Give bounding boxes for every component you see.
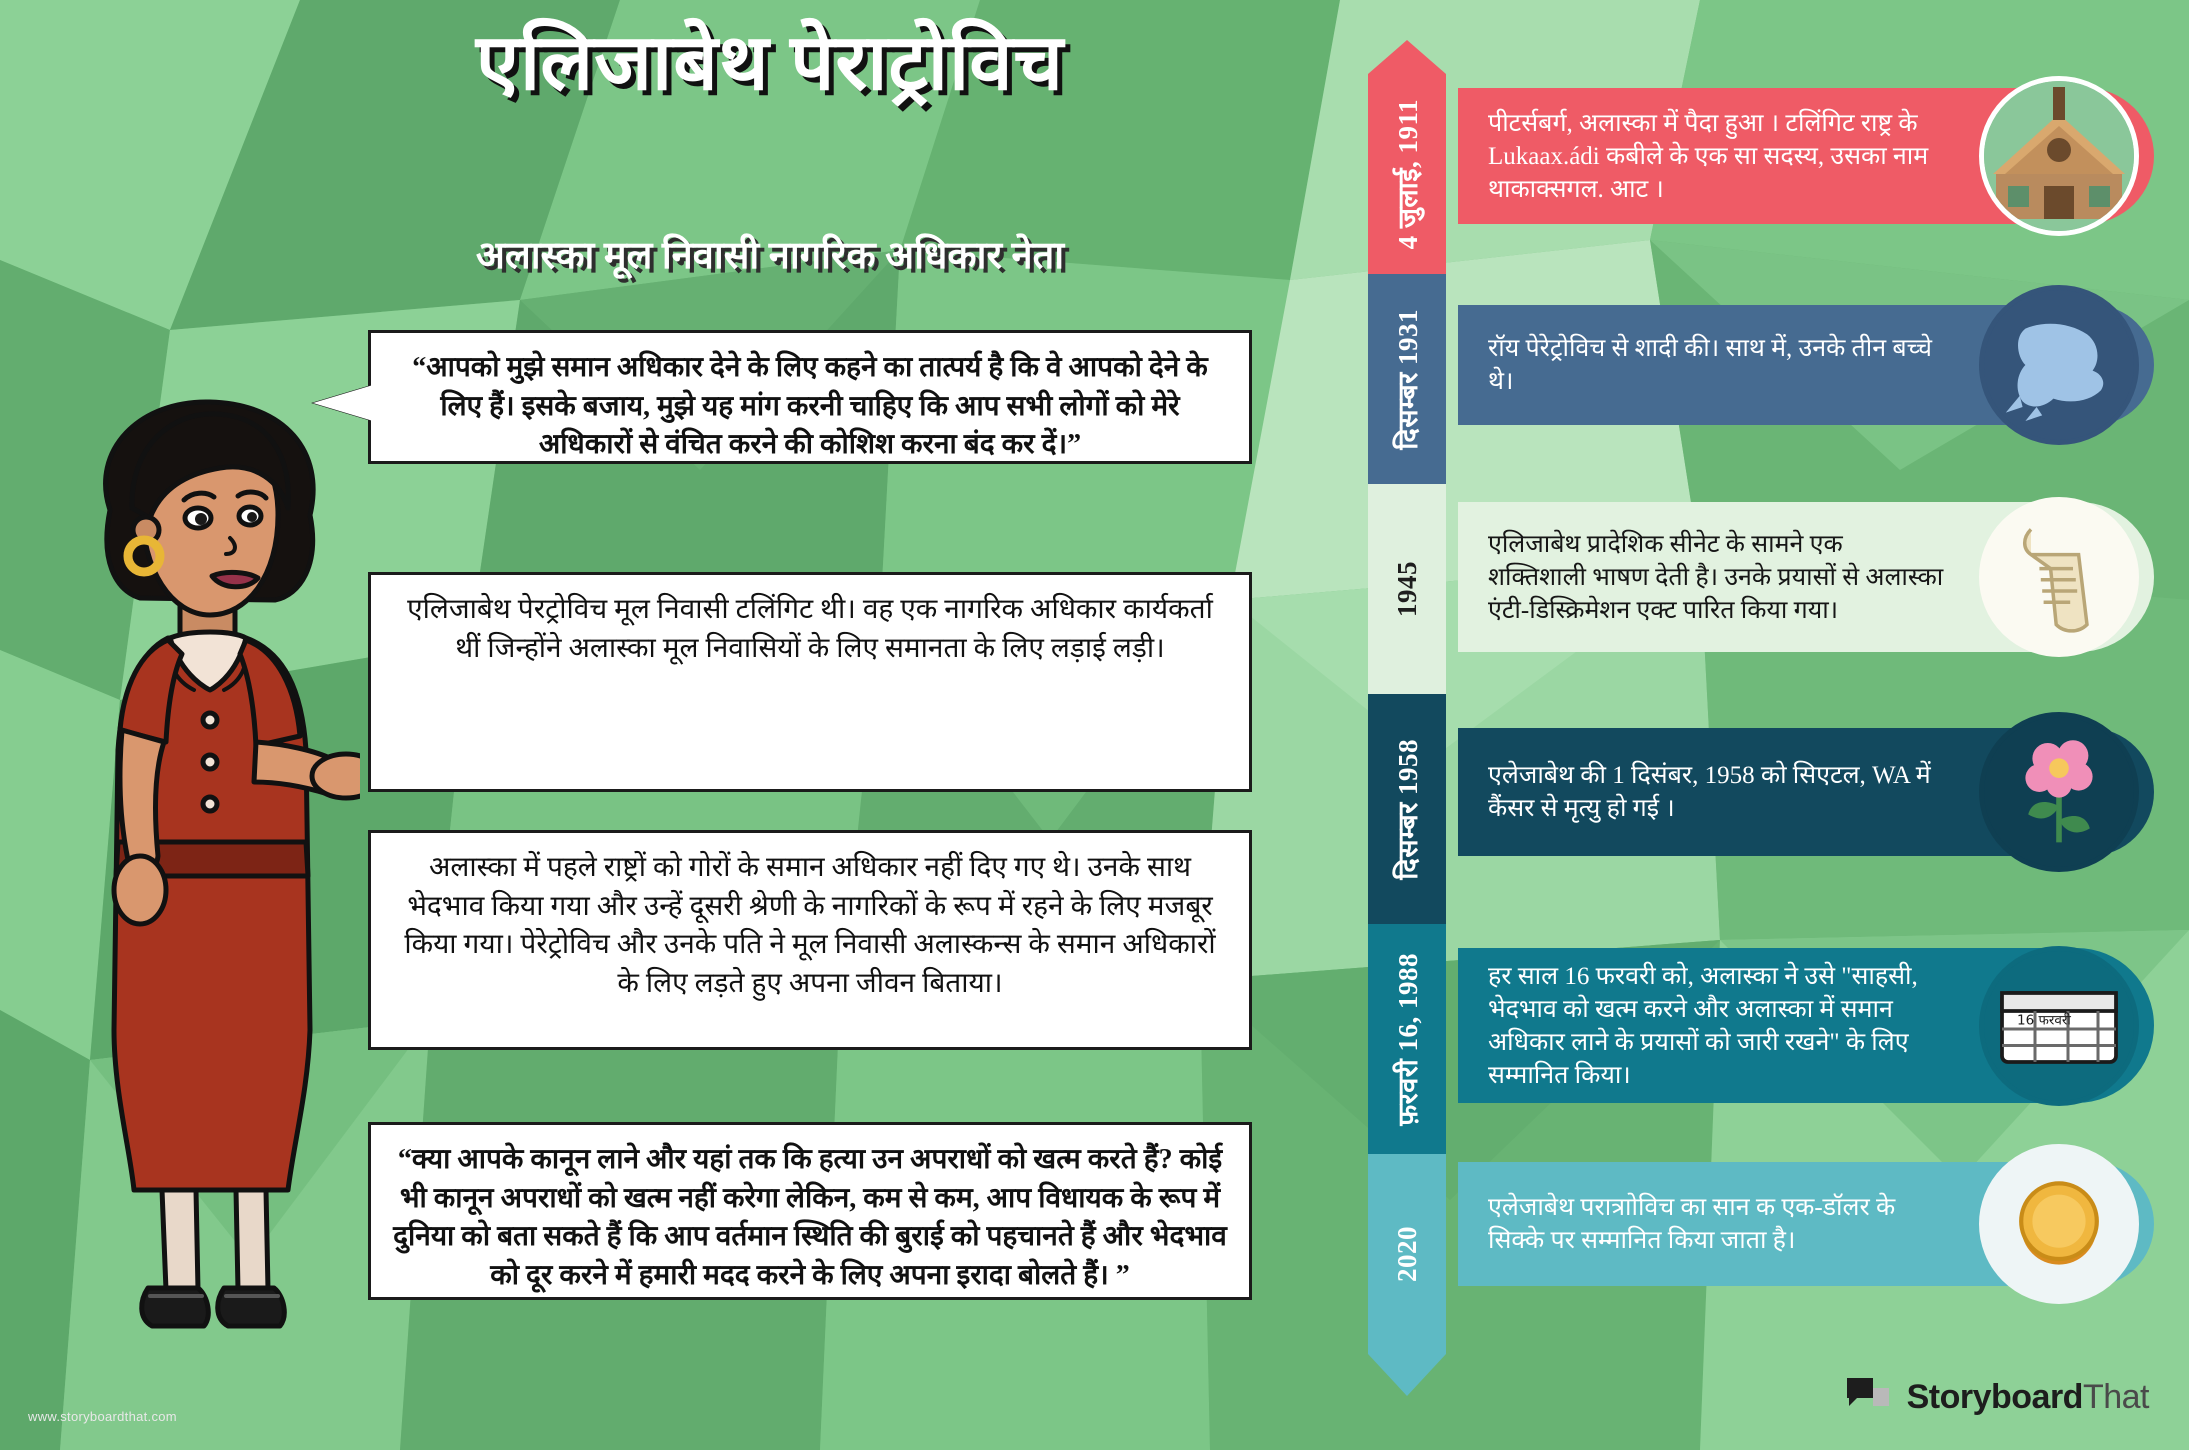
timeline-card-0[interactable]: पीटर्सबर्ग, अलास्का में पैदा हुआ । टलिंग… [1458,88,2154,224]
timeline-date-4-label: फ़रवरी 16, 1988 [1389,953,1426,1126]
building-icon [1979,76,2139,236]
page-subtitle: अलास्का मूल निवासी नागरिक अधिकार नेता [300,228,1240,280]
timeline-card-1-media [1964,305,2154,425]
timeline-card-3-text: एलेजाबेथ की 1 दिसंबर, 1958 को सिएटल, WA … [1458,745,1964,839]
body-box-one: एलिजाबेथ पेरट्रोविच मूल निवासी टलिंगिट थ… [368,572,1252,792]
coin-icon [1979,1144,2139,1304]
character-illustration [70,390,360,1340]
infographic-poster: एलिजाबेथ पेराट्रोविच अलास्का मूल निवासी … [0,0,2189,1450]
timeline-date-3-label: दिसम्बर 1958 [1389,739,1426,880]
timeline-date-5: 2020 [1368,1154,1446,1354]
timeline-card-3-media [1964,728,2154,856]
timeline-date-0: 4 जुलाई, 1911 [1368,74,1446,274]
timeline-date-2: 1945 [1368,484,1446,694]
timeline-date-0-label: 4 जुलाई, 1911 [1389,99,1426,249]
timeline-card-0-media [1964,88,2154,224]
calendar-icon: 16 फरवरी [1979,946,2139,1106]
body-box-two-text: अलास्का में पहले राष्ट्रों को गोरों के स… [404,852,1215,999]
brand-secondary: That [2083,1378,2149,1416]
timeline-card-4[interactable]: हर साल 16 फरवरी को, अलास्का ने उसे "साहस… [1458,948,2154,1103]
timeline-card-4-text: हर साल 16 फरवरी को, अलास्का ने उसे "साहस… [1458,946,1964,1106]
timeline-card-5-media [1964,1162,2154,1286]
flower-icon [1979,712,2139,872]
timeline-card-0-text: पीटर्सबर्ग, अलास्का में पैदा हुआ । टलिंग… [1458,93,1964,220]
timeline-card-5[interactable]: एलेजाबेथ परात्राोविच का सान क एक-डॉलर के… [1458,1162,2154,1286]
body-box-two: अलास्का में पहले राष्ट्रों को गोरों के स… [368,830,1252,1050]
brand-logo: StoryboardThat [1843,1374,2149,1420]
arrow-head-notch [1368,40,1446,74]
body-box-one-text: एलिजाबेथ पेरट्रोविच मूल निवासी टलिंगिट थ… [407,594,1213,664]
quote-box-bottom: “क्या आपके कानून लाने और यहां तक कि हत्य… [368,1122,1252,1300]
timeline: 4 जुलाई, 1911 दिसम्बर 1931 1945 दिसम्बर … [1368,40,2168,1380]
brand-primary: Storyboard [1907,1378,2083,1416]
watermark-url: www.storyboardthat.com [28,1409,177,1424]
timeline-card-5-text: एलेजाबेथ परात्राोविच का सान क एक-डॉलर के… [1458,1177,1964,1271]
timeline-card-3[interactable]: एलेजाबेथ की 1 दिसंबर, 1958 को सिएटल, WA … [1458,728,2154,856]
svg-text:16 फरवरी: 16 फरवरी [2017,1011,2071,1028]
page-title: एलिजाबेथ पेराट्रोविच [300,22,1240,104]
timeline-date-5-label: 2020 [1392,1226,1423,1282]
timeline-card-2-text: एलिजाबेथ प्रादेशिक सीनेट के सामने एक शक्… [1458,514,1964,641]
timeline-date-3: दिसम्बर 1958 [1368,694,1446,924]
timeline-card-1-text: रॉय पेरेट्रोविच से शादी की। साथ में, उनक… [1458,318,1964,412]
brand-text: StoryboardThat [1907,1378,2149,1417]
timeline-date-1: दिसम्बर 1931 [1368,274,1446,484]
scroll-icon [1979,497,2139,657]
timeline-date-1-label: दिसम्बर 1931 [1389,309,1426,450]
chat-bubble-icon [1843,1374,1893,1420]
timeline-date-2-label: 1945 [1392,561,1423,617]
quote-box-top: “आपको मुझे समान अधिकार देने के लिए कहने … [368,330,1252,464]
speech-tail [313,385,373,421]
timeline-card-1[interactable]: रॉय पेरेट्रोविच से शादी की। साथ में, उनक… [1458,305,2154,425]
arrow-tip [1368,1354,1446,1396]
timeline-card-4-media: 16 फरवरी [1964,948,2154,1103]
timeline-arrow-column: 4 जुलाई, 1911 दिसम्बर 1931 1945 दिसम्बर … [1368,40,1446,1396]
quote-box-bottom-text: “क्या आपके कानून लाने और यहां तक कि हत्य… [393,1144,1227,1291]
timeline-card-2[interactable]: एलिजाबेथ प्रादेशिक सीनेट के सामने एक शक्… [1458,502,2154,652]
alaska-map-icon [1979,285,2139,445]
timeline-date-4: फ़रवरी 16, 1988 [1368,924,1446,1154]
quote-box-top-text: “आपको मुझे समान अधिकार देने के लिए कहने … [412,352,1207,460]
timeline-card-2-media [1964,502,2154,652]
